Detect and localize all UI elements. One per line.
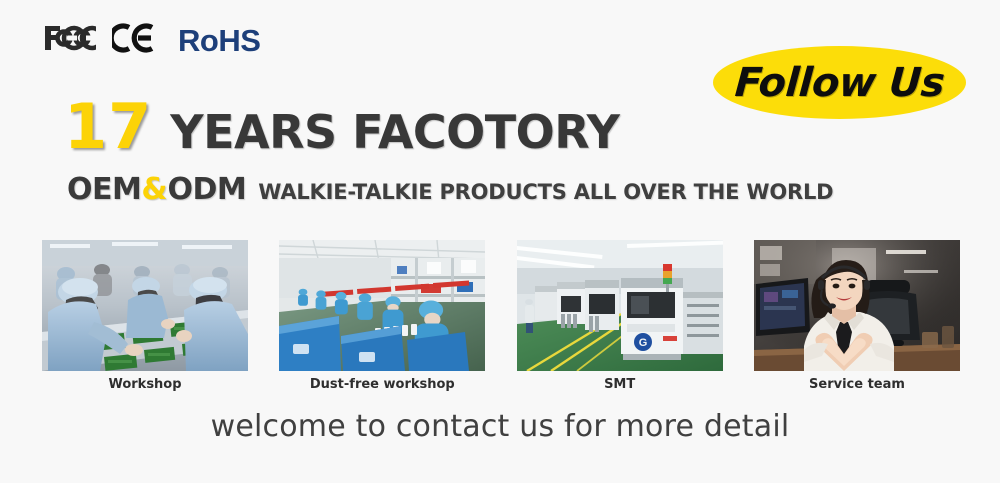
photo-cell-workshop [42, 240, 248, 371]
contact-tagline: welcome to contact us for more detail [0, 409, 1000, 444]
caption-workshop: Workshop [42, 375, 248, 395]
factory-promo-banner: RoHS Follow Us 17 YEARS FACOTORY OEM & O… [0, 0, 1000, 483]
headline: 17 YEARS FACOTORY [64, 96, 620, 158]
headline-years-number: 17 [64, 96, 152, 158]
caption-dustfree-workshop: Dust-free workshop [279, 375, 485, 395]
subheadline: OEM & ODM WALKIE-TALKIE PRODUCTS ALL OVE… [67, 175, 833, 205]
follow-us-label: Follow Us [733, 63, 945, 103]
service-team-photo [754, 240, 960, 371]
photo-cell-smt: G [517, 240, 723, 371]
workshop-photo [42, 240, 248, 371]
follow-us-badge[interactable]: Follow Us [713, 46, 966, 119]
photo-cell-dustfree [279, 240, 485, 371]
fcc-icon [44, 23, 96, 58]
caption-smt: SMT [517, 375, 723, 395]
photo-cell-service [754, 240, 960, 371]
oem-label: OEM [67, 175, 141, 205]
headline-text: YEARS FACOTORY [170, 109, 619, 155]
certification-row: RoHS [44, 22, 260, 58]
ampersand-label: & [141, 175, 167, 205]
rohs-label: RoHS [178, 25, 260, 56]
photo-strip: G [42, 240, 960, 371]
subheadline-tagline: WALKIE-TALKIE PRODUCTS ALL OVER THE WORL… [258, 182, 833, 203]
odm-label: ODM [168, 175, 247, 205]
smt-line-photo: G [517, 240, 723, 371]
ce-icon [112, 23, 158, 58]
caption-service-team: Service team [754, 375, 960, 395]
svg-text:G: G [638, 337, 647, 349]
dustfree-workshop-photo [279, 240, 485, 371]
photo-captions: Workshop Dust-free workshop SMT Service … [42, 375, 960, 395]
